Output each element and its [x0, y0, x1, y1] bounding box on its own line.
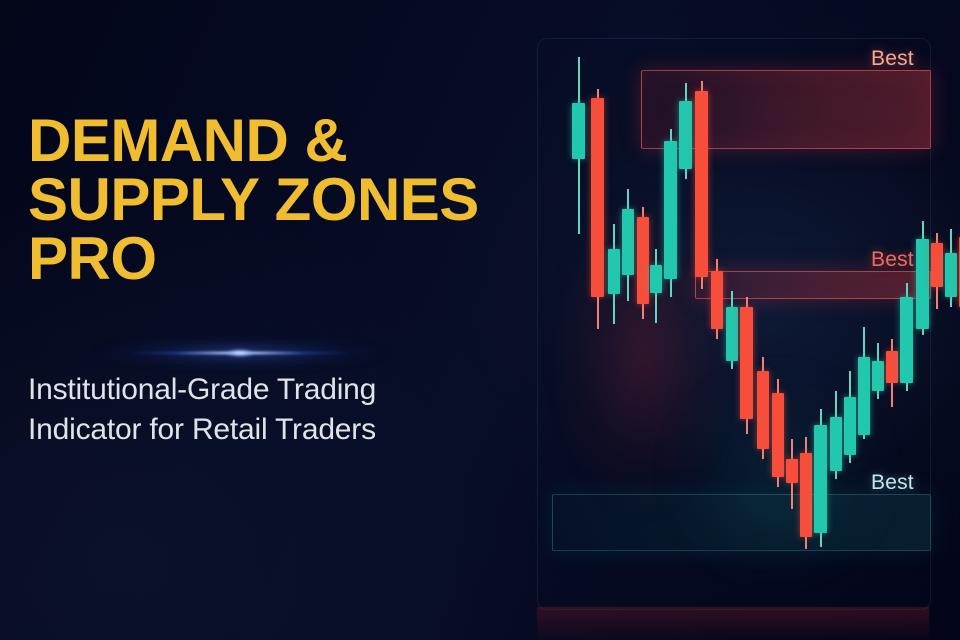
zone-label-supply-2: Best — [871, 249, 914, 270]
candle — [931, 233, 943, 309]
candle-body — [872, 361, 884, 391]
candle-body — [726, 307, 738, 361]
candle-body — [786, 459, 798, 483]
candle — [664, 129, 677, 297]
zone-label-demand-1: Best — [871, 472, 914, 493]
lens-flare-core-icon — [227, 350, 253, 357]
candle — [814, 409, 827, 547]
candle-body — [916, 239, 929, 329]
candle-body — [772, 393, 784, 477]
candle — [622, 189, 634, 301]
candle-body — [572, 103, 585, 159]
candle — [772, 379, 784, 487]
candle — [740, 297, 753, 434]
candle — [608, 224, 620, 324]
candle-body — [591, 98, 604, 297]
candle — [711, 259, 723, 339]
bottom-supply-band — [537, 607, 929, 640]
candle-body — [622, 209, 634, 275]
hero-text-pane: DEMAND & SUPPLY ZONES PRO Institutional-… — [0, 0, 540, 640]
candle-body — [858, 357, 870, 435]
chart-canvas: BestBestBest — [538, 39, 930, 609]
candle-body — [931, 243, 943, 287]
candle-body — [945, 253, 957, 297]
candle-body — [814, 425, 827, 533]
candle-body — [711, 271, 723, 329]
candle — [757, 357, 769, 459]
lens-flare-divider — [95, 336, 385, 370]
zone-demand-1[interactable] — [552, 494, 931, 551]
candle — [800, 437, 812, 549]
candle — [886, 339, 898, 407]
candle — [872, 343, 884, 399]
candle — [679, 83, 692, 179]
candle — [945, 229, 957, 307]
candle — [591, 89, 604, 329]
candle-body — [844, 397, 856, 455]
candle — [844, 371, 856, 463]
candle-body — [757, 371, 769, 449]
candle — [572, 57, 585, 234]
candle-body — [886, 351, 898, 383]
promo-banner: DEMAND & SUPPLY ZONES PRO Institutional-… — [0, 0, 960, 640]
page-subtitle: Institutional-Grade Trading Indicator fo… — [28, 370, 528, 449]
candle-body — [830, 417, 842, 471]
candle — [900, 283, 913, 391]
candlestick-chart-panel: BestBestBest — [537, 38, 931, 610]
candle-body — [740, 307, 753, 419]
candle — [637, 207, 649, 319]
candle-body — [650, 265, 662, 293]
candle-body — [695, 91, 708, 277]
candle — [916, 221, 929, 335]
candle — [695, 81, 708, 289]
candle-body — [800, 453, 812, 537]
candle — [786, 439, 798, 509]
candle-body — [900, 297, 913, 383]
candle-body — [664, 141, 677, 279]
candle — [650, 249, 662, 323]
candle — [830, 391, 842, 479]
candle — [858, 327, 870, 439]
zone-label-supply-1: Best — [871, 48, 914, 69]
candle-body — [608, 249, 620, 294]
candle-body — [679, 101, 692, 169]
page-title: DEMAND & SUPPLY ZONES PRO — [28, 112, 538, 288]
candle — [726, 291, 738, 369]
candle-body — [637, 217, 649, 304]
